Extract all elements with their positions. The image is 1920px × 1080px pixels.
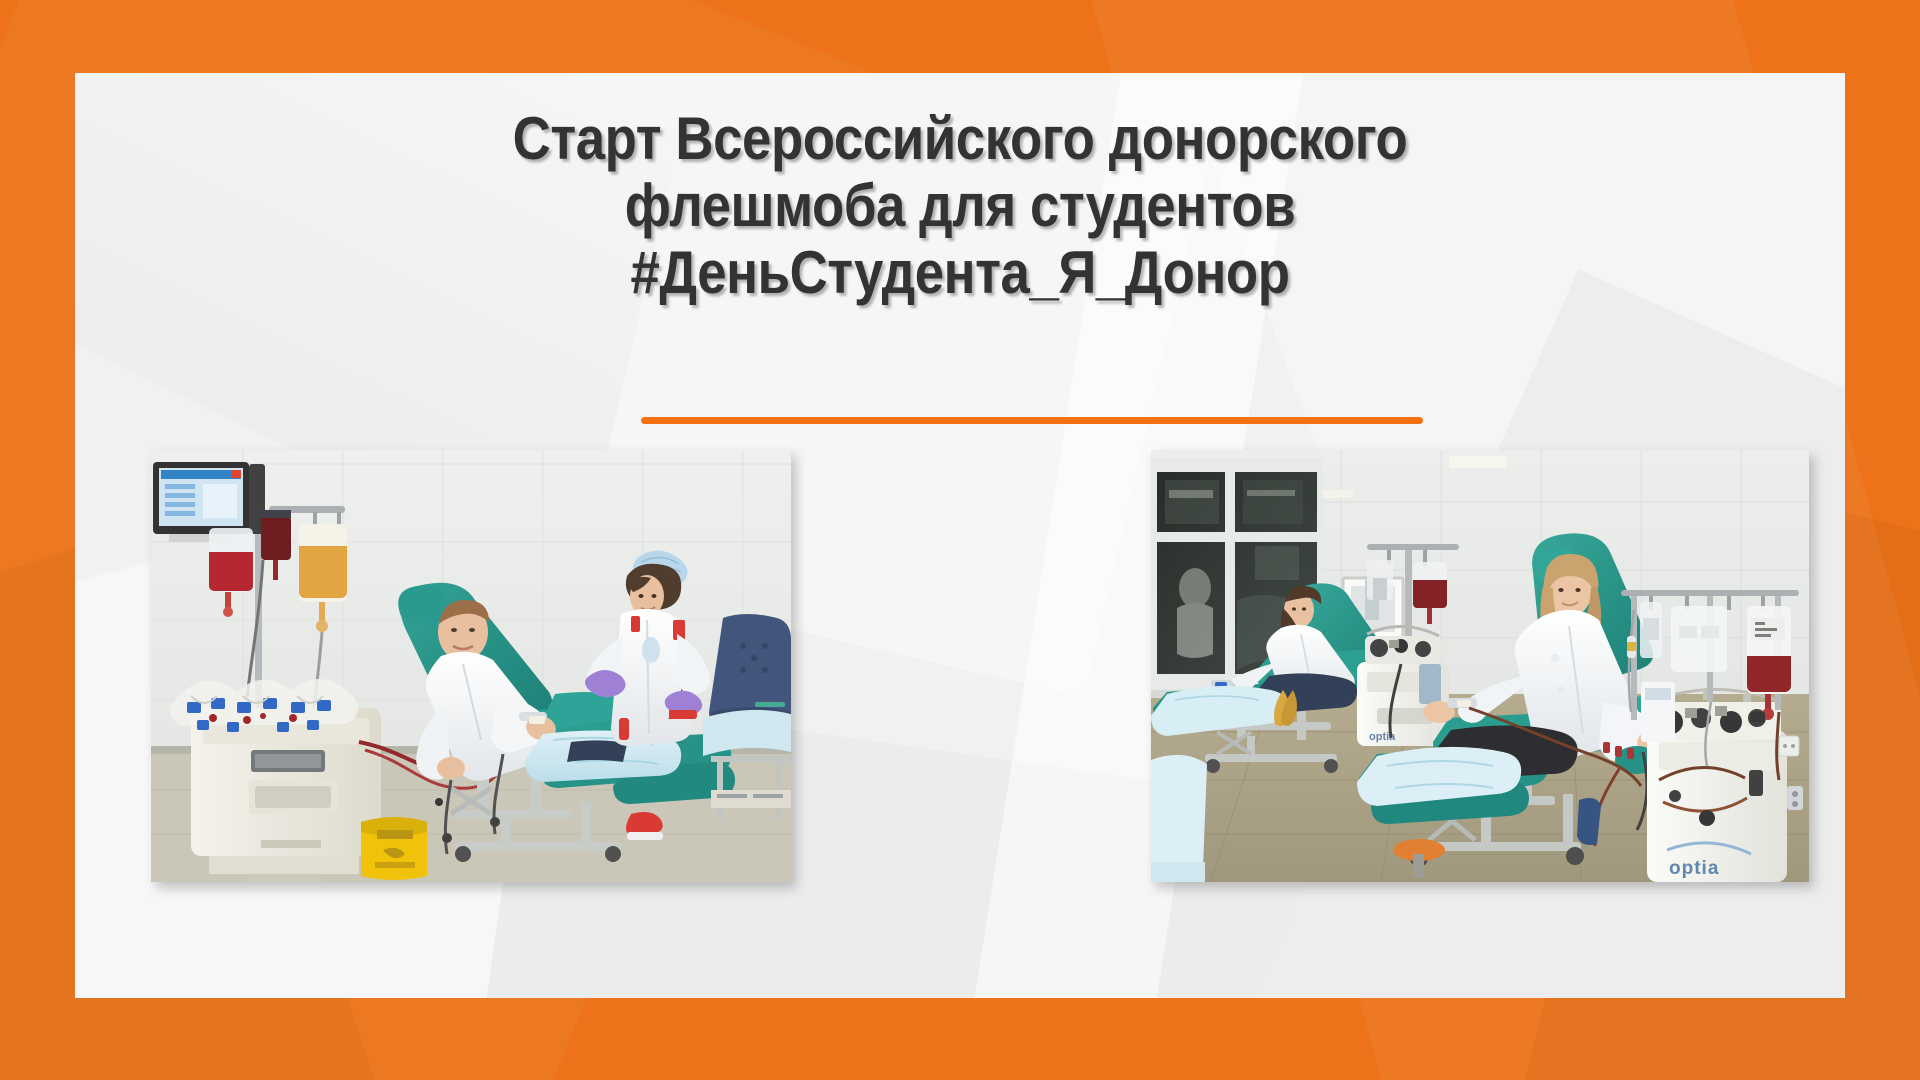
title-line-1: Старт Всероссийского донорского bbox=[181, 105, 1739, 172]
title-line-3: #ДеньСтудента_Я_Донор bbox=[181, 239, 1739, 306]
title-line-2: флешмоба для студентов bbox=[181, 172, 1739, 239]
slide-canvas: Старт Всероссийского донорского флешмоба… bbox=[0, 0, 1920, 1080]
content-panel: Старт Всероссийского донорского флешмоба… bbox=[75, 73, 1845, 998]
photo-right-image: optia bbox=[1151, 450, 1809, 882]
photo-left: Мужчина-донор в зелёном донорском кресле… bbox=[151, 450, 791, 882]
photo-right: Две девушки-доноры в зелёных донорских к… bbox=[1151, 450, 1809, 882]
page-title: Старт Всероссийского донорского флешмоба… bbox=[75, 105, 1845, 306]
title-underline-rule bbox=[641, 417, 1423, 424]
photo-left-image bbox=[151, 450, 791, 882]
